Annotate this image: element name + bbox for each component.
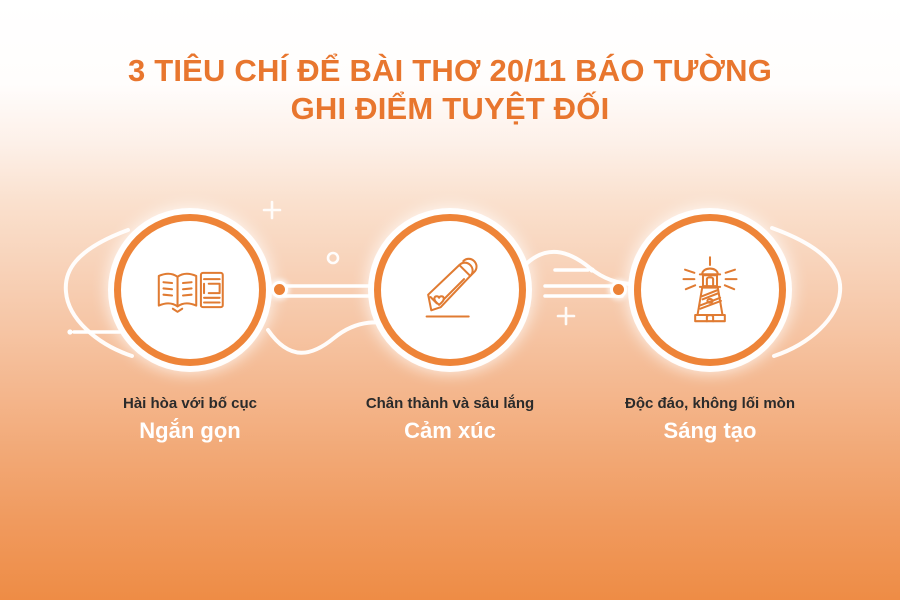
step-caption-1-sub: Hài hòa với bố cục (40, 394, 340, 414)
step-caption-3-sub: Độc đáo, không lối mòn (560, 394, 860, 414)
step-caption-1: Hài hòa với bố cục Ngắn gọn (40, 394, 340, 445)
sparkle-plus-left (264, 202, 280, 218)
wave-swoosh-lower-left (268, 322, 400, 352)
pen-nib-with-heart-icon (411, 251, 489, 329)
title-line-2: GHI ĐIỂM TUYỆT ĐỐI (0, 90, 900, 128)
page-title: 3 TIÊU CHÍ ĐỂ BÀI THƠ 20/11 BÁO TƯỜNG GH… (0, 52, 900, 128)
open-book-and-document-icon (151, 251, 229, 329)
step-circle-2[interactable] (374, 214, 526, 366)
dash-dot-right-dot (589, 267, 594, 272)
infographic-poster: 3 TIÊU CHÍ ĐỂ BÀI THƠ 20/11 BÁO TƯỜNG GH… (0, 0, 900, 600)
step-caption-2-sub: Chân thành và sâu lắng (300, 394, 600, 414)
step-caption-3-main: Sáng tạo (560, 417, 860, 446)
lighthouse-icon (671, 251, 749, 329)
connector-knob-2 (610, 281, 627, 298)
step-caption-2: Chân thành và sâu lắng Cảm xúc (300, 394, 600, 445)
step-circle-3[interactable] (634, 214, 786, 366)
step-caption-1-main: Ngắn gọn (40, 417, 340, 446)
step-caption-3: Độc đáo, không lối mòn Sáng tạo (560, 394, 860, 445)
wave-swoosh-upper-right (524, 252, 634, 284)
connector-knob-1 (271, 281, 288, 298)
sparkle-plus-right (558, 308, 574, 324)
step-caption-2-main: Cảm xúc (300, 417, 600, 446)
step-circle-1[interactable] (114, 214, 266, 366)
small-ring-dot (328, 253, 338, 263)
title-line-1: 3 TIÊU CHÍ ĐỂ BÀI THƠ 20/11 BÁO TƯỜNG (0, 52, 900, 90)
dash-dot-left-dot (67, 329, 72, 334)
